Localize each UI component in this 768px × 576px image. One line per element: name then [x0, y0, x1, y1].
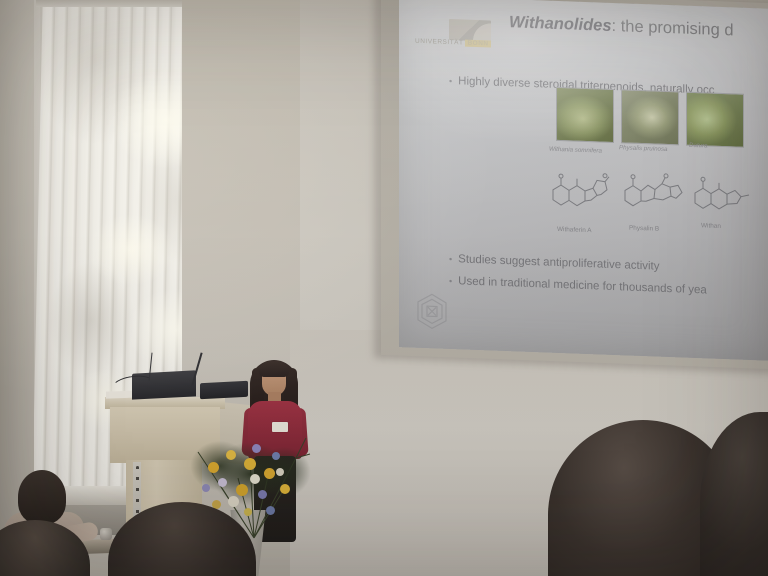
drinking-cup — [100, 528, 112, 540]
lecture-hall-photo: UNIVERSITÄTBONN Withanolides: the promis… — [0, 0, 768, 576]
seated-attendee-head — [18, 470, 66, 524]
flower-lilac — [218, 478, 227, 487]
presenter-hair-front — [259, 361, 289, 377]
bonn-logo-mark-icon — [449, 19, 491, 42]
cable-run — [149, 353, 179, 384]
flower-purple — [258, 490, 267, 499]
projection-screen: UNIVERSITÄTBONN Withanolides: the promis… — [399, 0, 768, 361]
presentation-slide: UNIVERSITÄTBONN Withanolides: the promis… — [399, 0, 768, 361]
chemical-structure-physalin-b — [621, 168, 687, 218]
chemical-structure-withaferin-a — [549, 166, 615, 216]
plant-caption-1: Withania somnifera — [549, 146, 602, 155]
plant-caption-2: Physalis pruinosa — [619, 144, 668, 153]
flower-yellow — [226, 450, 236, 460]
flower-white — [276, 468, 284, 476]
hexagon-institute-logo-icon — [415, 292, 449, 331]
blind-head-rail — [36, 0, 182, 7]
flower-white — [228, 496, 239, 507]
structure-caption-2: Physalin B — [629, 225, 659, 233]
bonn-logo-wordmark: UNIVERSITÄTBONN — [415, 38, 491, 48]
university-bonn-logo: UNIVERSITÄTBONN — [415, 18, 499, 53]
slide-bullet-3: Used in traditional medicine for thousan… — [449, 275, 707, 296]
bonn-logo-universitat-text: UNIVERSITÄT — [415, 38, 463, 47]
slide-title-rest: : the promising d — [612, 17, 734, 39]
flower-yellow — [264, 468, 275, 479]
plant-photo-withania — [556, 87, 614, 143]
flower-yellow — [244, 458, 256, 470]
plant-photo-datura — [686, 92, 744, 148]
slide-bullet-2: Studies suggest antiproliferative activi… — [449, 253, 660, 273]
flower-white — [250, 474, 260, 484]
bonn-logo-bonn-text: BONN — [465, 40, 490, 48]
slide-title: Withanolides: the promising d — [509, 13, 734, 40]
structure-caption-3: Withan — [701, 222, 721, 230]
flower-blue — [272, 452, 280, 460]
chemical-structure-withanolide — [691, 171, 757, 221]
slide-title-emphasis: Withanolides — [509, 13, 612, 35]
structure-caption-1: Withaferin A — [557, 226, 591, 234]
flower-yellow — [208, 462, 219, 473]
flower-yellow — [280, 484, 290, 494]
flower-yellow — [244, 508, 252, 516]
plant-caption-3: Datura — [689, 142, 708, 150]
flower-purple — [252, 444, 261, 453]
plant-photo-physalis — [621, 89, 679, 145]
flower-blue — [266, 506, 275, 515]
flower-purple — [202, 484, 210, 492]
flower-yellow — [236, 484, 248, 496]
